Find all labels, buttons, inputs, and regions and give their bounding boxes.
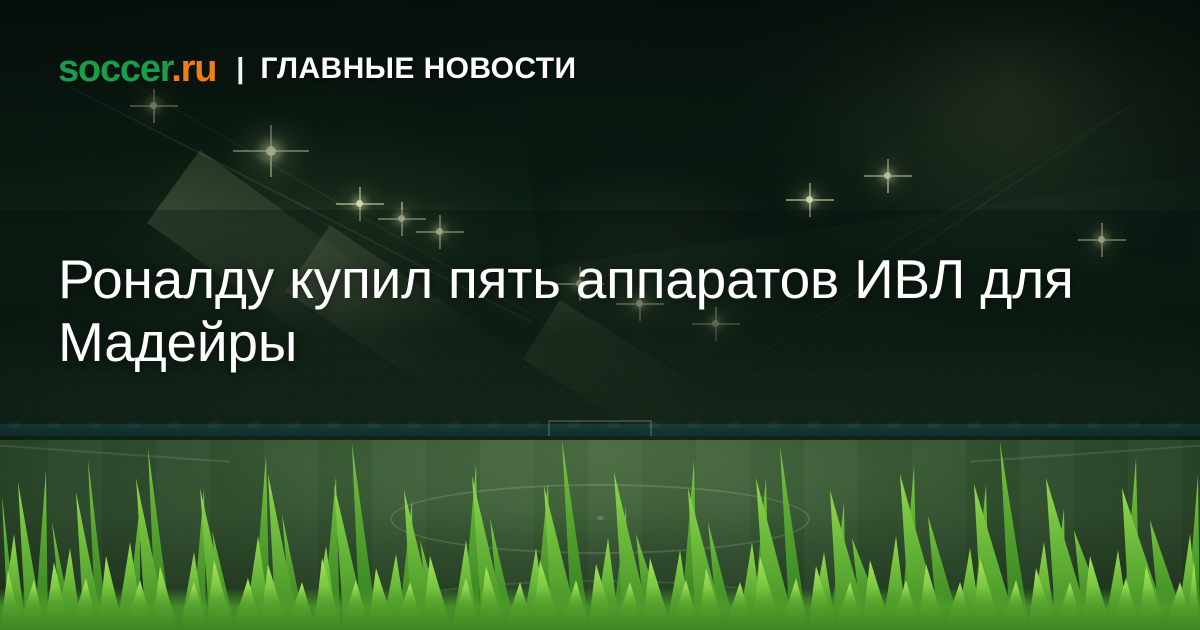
foreground-grass <box>0 430 1200 630</box>
card-header: soccer.ru | ГЛАВНЫЕ НОВОСТИ <box>58 50 576 88</box>
header-separator: | <box>236 55 244 84</box>
news-share-card: soccer.ru | ГЛАВНЫЕ НОВОСТИ Роналду купи… <box>0 0 1200 630</box>
header-kicker-label: ГЛАВНЫЕ НОВОСТИ <box>260 54 576 84</box>
logo-domain-text: .ru <box>171 48 216 90</box>
soccer-ru-logo[interactable]: soccer.ru <box>58 50 216 88</box>
logo-name-text: soccer <box>58 48 171 90</box>
page-title: Роналду купил пять аппаратов ИВЛ для Мад… <box>58 248 1118 373</box>
